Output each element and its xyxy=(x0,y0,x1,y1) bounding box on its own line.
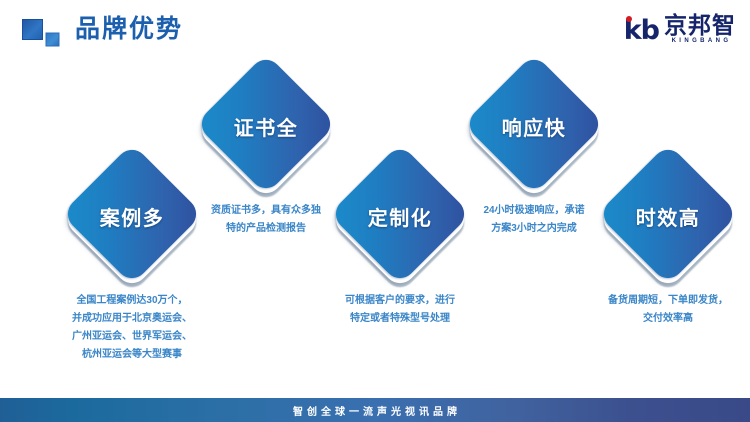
square-small-icon xyxy=(44,31,61,48)
diamond-shape: 响应快 xyxy=(482,74,586,178)
desc-line: 资质证书多，具有众多独 xyxy=(211,202,321,220)
desc-line: 广州亚运会、世界军运会、 xyxy=(72,328,192,346)
desc-line: 24小时极速响应，承诺 xyxy=(483,202,584,220)
desc-line: 特定或者特殊型号处理 xyxy=(345,310,455,328)
card-description: 全国工程案例达30万个， 并成功应用于北京奥运会、 广州亚运会、世界军运会、 杭… xyxy=(72,292,192,364)
desc-line: 可根据客户的要求，进行 xyxy=(345,292,455,310)
logo-monogram: kb xyxy=(624,17,659,45)
logo-cn-name: 京邦智 xyxy=(664,13,736,37)
desc-line: 杭州亚运会等大型赛事 xyxy=(72,346,192,364)
brand-logo: kb 京邦智 KINGBANG xyxy=(624,13,736,45)
diamond-shape: 定制化 xyxy=(348,164,452,268)
diamond-shape: 证书全 xyxy=(214,74,318,178)
desc-line: 交付效率高 xyxy=(608,310,728,328)
diamond-face xyxy=(329,143,470,284)
diamond-face xyxy=(195,53,336,194)
slide-header: 品牌优势 kb 京邦智 KINGBANG xyxy=(0,0,750,56)
logo-en-name: KINGBANG xyxy=(669,37,732,45)
slide-root: 品牌优势 kb 京邦智 KINGBANG 案例多 全国工程案例达30万个， 并成… xyxy=(0,0,750,422)
card-description: 资质证书多，具有众多独 特的产品检测报告 xyxy=(211,202,321,238)
desc-line: 全国工程案例达30万个， xyxy=(72,292,192,310)
desc-line: 并成功应用于北京奥运会、 xyxy=(72,310,192,328)
page-title: 品牌优势 xyxy=(75,12,183,46)
diamond-shape: 时效高 xyxy=(616,164,720,268)
title-decoration xyxy=(20,17,66,49)
logo-name-block: 京邦智 KINGBANG xyxy=(664,13,736,45)
desc-line: 备货周期短，下单即发货， xyxy=(608,292,728,310)
diamond-shape: 案例多 xyxy=(80,164,184,268)
slide-footer: 智创全球一流声光视讯品牌 xyxy=(0,398,750,422)
diamond-face xyxy=(597,143,738,284)
square-large-icon xyxy=(20,17,45,42)
logo-dot-icon xyxy=(626,16,632,22)
card-description: 可根据客户的要求，进行 特定或者特殊型号处理 xyxy=(345,292,455,328)
card-description: 24小时极速响应，承诺 方案3小时之内完成 xyxy=(483,202,584,238)
desc-line: 特的产品检测报告 xyxy=(211,220,321,238)
diamond-face xyxy=(463,53,604,194)
desc-line: 方案3小时之内完成 xyxy=(483,220,584,238)
card-description: 备货周期短，下单即发货， 交付效率高 xyxy=(608,292,728,328)
diamond-face xyxy=(61,143,202,284)
footer-slogan: 智创全球一流声光视讯品牌 xyxy=(289,403,461,418)
